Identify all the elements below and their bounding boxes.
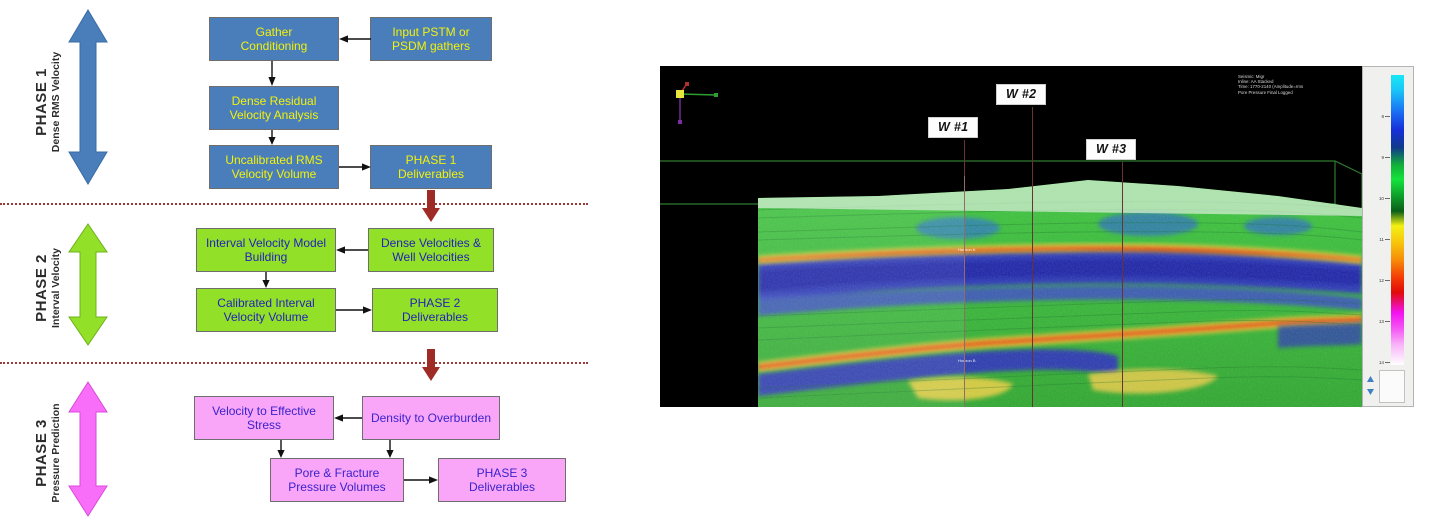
horizon-label-b: Horizon B	[958, 358, 976, 363]
node-line: Conditioning	[241, 39, 308, 53]
colorbar-tick-label: 8	[1381, 114, 1384, 119]
phase-2-range-arrow	[66, 222, 110, 347]
node-line: PHASE 2	[402, 296, 468, 310]
node-line: Deliverables	[402, 310, 468, 324]
connector-velocity-stress-to-pore-fracture	[275, 440, 287, 459]
node-line: Density to Overburden	[371, 411, 491, 425]
node-line: Gather	[241, 25, 308, 39]
phase-3-label: PHASE 3 Pressure Prediction	[34, 393, 62, 513]
phase-2-name: PHASE 2	[34, 228, 50, 348]
well-line-2	[1032, 107, 1033, 407]
phase-2-subtitle: Interval Velocity	[50, 228, 62, 348]
layer-down-icon[interactable]	[1366, 383, 1375, 392]
well-label-2[interactable]: W #2	[996, 84, 1046, 105]
connector-calibrated-to-deliverables	[336, 304, 373, 316]
node-phase-3-deliverables[interactable]: PHASE 3 Deliverables	[438, 458, 566, 502]
node-line: Dense Residual	[230, 94, 319, 108]
connector-pore-fracture-to-deliverables	[404, 474, 439, 486]
horizon-label-text: Horizon A	[958, 247, 975, 252]
node-interval-velocity-model-building[interactable]: Interval Velocity Model Building	[196, 228, 336, 272]
colorbar-panel[interactable]: 8 9 10 11 12 13 14	[1362, 66, 1414, 407]
node-line: Pressure Volumes	[288, 480, 385, 494]
node-line: Dense Velocities &	[381, 236, 481, 250]
colorbar-tick-label: 10	[1379, 196, 1384, 201]
node-line: Input PSTM or	[392, 25, 470, 39]
connector-input-to-gather	[339, 33, 372, 45]
phase-1-to-2-transition-arrow	[421, 190, 441, 228]
node-line: Well Velocities	[381, 250, 481, 264]
connector-dense-residual-to-uncalibrated	[266, 130, 278, 146]
node-line: Velocity to Effective	[212, 404, 316, 418]
well-label-1[interactable]: W #1	[928, 117, 978, 138]
node-velocity-to-effective-stress[interactable]: Velocity to Effective Stress	[194, 396, 334, 440]
node-density-to-overburden[interactable]: Density to Overburden	[362, 396, 500, 440]
well-line-3	[1122, 162, 1123, 407]
node-pore-fracture-pressure-volumes[interactable]: Pore & Fracture Pressure Volumes	[270, 458, 404, 502]
phase-1-name: PHASE 1	[34, 42, 50, 162]
colorbar-footer	[1365, 369, 1411, 405]
phase-1-range-arrow	[66, 8, 110, 186]
seismic-viewer[interactable]: Seismic: Migr Inline: AA Stacked Time: 1…	[660, 66, 1362, 407]
colorbar-value-slot[interactable]	[1379, 370, 1405, 403]
colorbar-tick-label: 12	[1379, 278, 1384, 283]
workflow-diagram: PHASE 1 Dense RMS Velocity Gather Condit…	[0, 0, 640, 530]
phase-3-subtitle: Pressure Prediction	[50, 393, 62, 513]
colorbar-tick-label: 9	[1381, 155, 1384, 160]
node-dense-residual-velocity-analysis[interactable]: Dense Residual Velocity Analysis	[209, 86, 339, 130]
node-dense-velocities-well-velocities[interactable]: Dense Velocities & Well Velocities	[368, 228, 494, 272]
node-phase-1-deliverables[interactable]: PHASE 1 Deliverables	[370, 145, 492, 189]
node-line: PHASE 1	[398, 153, 464, 167]
node-line: Calibrated Interval	[217, 296, 314, 310]
node-line: Deliverables	[398, 167, 464, 181]
node-line: Interval Velocity Model	[206, 236, 326, 250]
phase-3-name: PHASE 3	[34, 393, 50, 513]
node-uncalibrated-rms-velocity-volume[interactable]: Uncalibrated RMS Velocity Volume	[209, 145, 339, 189]
colorbar-tick-label: 14	[1379, 360, 1384, 365]
slice-boundary	[964, 176, 965, 407]
seismic-section: Horizon A Horizon B	[758, 176, 1362, 407]
horizon-label-text: Horizon B	[958, 358, 976, 363]
node-line: Velocity Volume	[225, 167, 322, 181]
node-input-pstm-psdm-gathers[interactable]: Input PSTM or PSDM gathers	[370, 17, 492, 61]
node-line: Pore & Fracture	[288, 466, 385, 480]
phase-1-subtitle: Dense RMS Velocity	[50, 42, 62, 162]
phase-divider-1	[0, 203, 588, 205]
connector-density-to-velocity-stress	[334, 412, 363, 424]
node-line: PHASE 3	[469, 466, 535, 480]
connector-dense-velocities-to-interval-model	[336, 244, 369, 256]
node-line: Uncalibrated RMS	[225, 153, 322, 167]
node-calibrated-interval-velocity-volume[interactable]: Calibrated Interval Velocity Volume	[196, 288, 336, 332]
node-line: Stress	[212, 418, 316, 432]
colorbar-tick-label: 11	[1379, 237, 1384, 242]
velocity-color-scale	[1391, 75, 1404, 365]
horizon-label-a: Horizon A	[958, 247, 975, 252]
node-line: Building	[206, 250, 326, 264]
connector-uncalibrated-to-deliverables	[339, 161, 372, 173]
connector-gather-to-dense-residual	[266, 61, 278, 87]
phase-3-range-arrow	[66, 380, 110, 518]
phase-2-label: PHASE 2 Interval Velocity	[34, 228, 62, 348]
well-label-3[interactable]: W #3	[1086, 139, 1136, 160]
node-line: Deliverables	[469, 480, 535, 494]
colorbar-ticks: 8 9 10 11 12 13 14	[1369, 75, 1391, 365]
node-line: Velocity Volume	[217, 310, 314, 324]
phase-1-label: PHASE 1 Dense RMS Velocity	[34, 42, 62, 162]
node-gather-conditioning[interactable]: Gather Conditioning	[209, 17, 339, 61]
colorbar-tick-label: 13	[1379, 319, 1384, 324]
connector-density-to-pore-fracture	[384, 440, 396, 459]
layer-up-icon[interactable]	[1366, 371, 1375, 380]
phase-divider-2	[0, 362, 588, 364]
node-line: PSDM gathers	[392, 39, 470, 53]
node-line: Velocity Analysis	[230, 108, 319, 122]
connector-interval-model-to-calibrated	[260, 272, 272, 289]
phase-2-to-3-transition-arrow	[421, 349, 441, 387]
node-phase-2-deliverables[interactable]: PHASE 2 Deliverables	[372, 288, 498, 332]
